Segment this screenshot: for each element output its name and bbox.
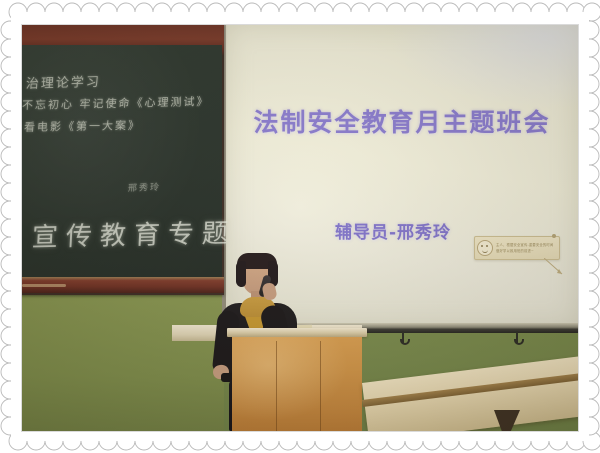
- photo-clip-layer: 法制安全教育月主题班会 辅导员-邢秀玲 主人，根据安全宣传-重要安全的时间 做好…: [22, 25, 578, 431]
- speaker-hair-left: [236, 261, 246, 287]
- podium-seam: [276, 341, 277, 431]
- slide-callout-box: 主人，根据安全宣传-重要安全的时间 做好学以致用班的前进~: [474, 236, 560, 260]
- slide-title: 法制安全教育月主题班会: [226, 103, 578, 139]
- classroom-photo: 法制安全教育月主题班会 辅导员-邢秀玲 主人，根据安全宣传-重要安全的时间 做好…: [22, 25, 578, 431]
- screen-glare: [388, 25, 578, 109]
- chalk-line-2: 不忘初心 牢记使命《心理测试》: [22, 93, 210, 113]
- callout-leader-line: [544, 258, 564, 276]
- callout-line-1: 主人，根据安全宣传-重要安全的时间: [496, 243, 557, 247]
- chalk-signature: 邢秀玲: [128, 180, 162, 194]
- podium: [232, 337, 362, 431]
- blackboard-surface: 治理论学习 不忘初心 牢记使命《心理测试》 看电影《第一大案》 邢秀玲 宣传教育…: [22, 45, 222, 277]
- wall-hook: [402, 331, 404, 344]
- photo-frame: 法制安全教育月主题班会 辅导员-邢秀玲 主人，根据安全宣传-重要安全的时间 做好…: [0, 0, 600, 453]
- callout-anchor-dot: [552, 234, 556, 238]
- smiley-face-icon: [477, 240, 493, 256]
- chalk-line-1: 治理论学习: [25, 71, 101, 92]
- podium-top: [227, 328, 367, 337]
- podium-sheen: [232, 337, 362, 431]
- chalk-headline: 宣传教育专题: [31, 213, 237, 254]
- wall-hook: [516, 331, 518, 344]
- callout-text-block: 主人，根据安全宣传-重要安全的时间 做好学以致用班的前进~: [496, 243, 557, 252]
- callout-line-2: 做好学以致用班的前进~: [496, 249, 557, 253]
- photo-clone-host: 法制安全教育月主题班会 辅导员-邢秀玲 主人，根据安全宣传-重要安全的时间 做好…: [22, 25, 578, 431]
- wainscot-wall-left: [22, 293, 224, 431]
- chalk-tray: [22, 277, 224, 293]
- blackboard-frame: 治理论学习 不忘初心 牢记使命《心理测试》 看电影《第一大案》 邢秀玲 宣传教育…: [22, 25, 224, 295]
- podium-seam: [320, 341, 321, 431]
- chalk-line-3: 看电影《第一大案》: [23, 117, 141, 135]
